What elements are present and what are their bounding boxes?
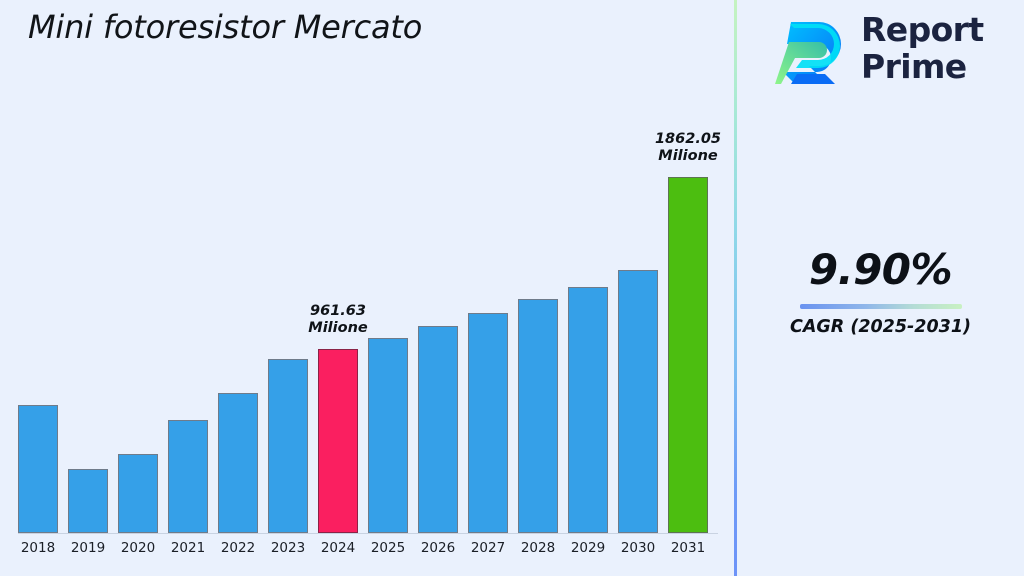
x-tick-2020: 2020	[110, 540, 166, 556]
callout-value: 1862.05	[655, 131, 721, 147]
callout-value: 961.63	[310, 303, 366, 319]
x-tick-2022: 2022	[210, 540, 266, 556]
bar-2025	[368, 338, 408, 533]
bar-2029	[568, 287, 608, 533]
cagr-block: 9.90% CAGR (2025-2031)	[737, 248, 1024, 337]
chart-panel: Mini fotoresistor Mercato 20182019202020…	[0, 0, 735, 576]
x-tick-2029: 2029	[560, 540, 616, 556]
report-prime-logo-icon	[775, 14, 853, 92]
x-tick-2018: 2018	[10, 540, 66, 556]
bar-callout-2024: 961.63 Milione	[290, 303, 386, 338]
x-tick-2024: 2024	[310, 540, 366, 556]
x-tick-2031: 2031	[660, 540, 716, 556]
bar-2031	[668, 177, 708, 533]
bar-chart-plot: 2018201920202021202220232024202520262027…	[0, 0, 735, 576]
x-axis-line	[18, 533, 718, 534]
callout-unit: Milione	[308, 320, 367, 336]
x-tick-2023: 2023	[260, 540, 316, 556]
bar-2022	[218, 393, 258, 533]
x-tick-2025: 2025	[360, 540, 416, 556]
x-tick-2019: 2019	[60, 540, 116, 556]
bar-2024	[318, 349, 358, 533]
bar-2023	[268, 359, 308, 533]
x-tick-2028: 2028	[510, 540, 566, 556]
x-tick-2030: 2030	[610, 540, 666, 556]
bar-callout-2031: 1862.05 Milione	[640, 131, 736, 166]
bar-2026	[418, 326, 458, 533]
cagr-label: CAGR (2025-2031)	[737, 317, 1024, 337]
bar-2028	[518, 299, 558, 533]
bar-2027	[468, 313, 508, 533]
bar-2020	[118, 454, 158, 533]
bar-2021	[168, 420, 208, 533]
brand-logo: Report Prime	[775, 10, 999, 96]
callout-unit: Milione	[658, 148, 717, 164]
brand-line-1: Report	[861, 12, 1001, 49]
brand-wordmark: Report Prime	[861, 12, 1001, 86]
bar-2019	[68, 469, 108, 533]
cagr-value: 9.90%	[737, 248, 1024, 292]
x-tick-2026: 2026	[410, 540, 466, 556]
brand-panel: Report Prime 9.90% CAGR (2025-2031)	[737, 0, 1024, 576]
brand-line-2: Prime	[861, 49, 1001, 86]
bar-2030	[618, 270, 658, 533]
x-tick-2021: 2021	[160, 540, 216, 556]
x-tick-2027: 2027	[460, 540, 516, 556]
cagr-divider-rule	[800, 304, 962, 309]
bar-2018	[18, 405, 58, 533]
infographic-page: Mini fotoresistor Mercato 20182019202020…	[0, 0, 1024, 576]
